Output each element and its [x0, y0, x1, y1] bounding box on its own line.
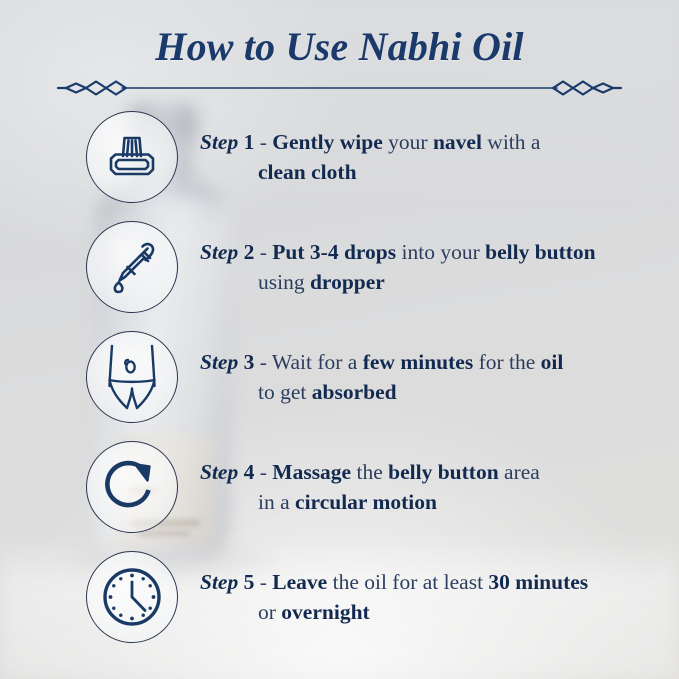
steps-list: Step 1 - Gently wipe your navel with a c…: [0, 102, 679, 652]
body-text: the: [351, 460, 388, 484]
tissue-box-icon: [86, 111, 178, 203]
emphasis-text: oil: [541, 350, 564, 374]
emphasis-text: dropper: [310, 270, 385, 294]
step-line-1: Wait for a few minutes for the oil: [272, 350, 563, 374]
circular-arrow-icon: [86, 441, 178, 533]
emphasis-text: Gently wipe: [272, 130, 382, 154]
emphasis-text: absorbed: [312, 380, 397, 404]
step-number: 1: [244, 130, 255, 154]
poster-header: How to Use Nabhi Oil: [0, 24, 679, 106]
step-line-2: using dropper: [200, 267, 596, 297]
step-dash: -: [260, 240, 267, 264]
step-text: Step 4 - Massage the belly button area i…: [200, 457, 540, 517]
step-label: Step: [200, 350, 238, 374]
dropper-icon: [86, 221, 178, 313]
emphasis-text: belly button: [485, 240, 596, 264]
abdomen-navel-icon: [86, 331, 178, 423]
emphasis-text: circular motion: [295, 490, 437, 514]
step-line-1: Massage the belly button area: [272, 460, 540, 484]
step-label: Step: [200, 240, 238, 264]
emphasis-text: Leave: [272, 570, 327, 594]
step-line-1: Put 3-4 drops into your belly button: [272, 240, 595, 264]
step-dash: -: [260, 350, 267, 374]
step-number: 3: [244, 350, 255, 374]
step-text: Step 1 - Gently wipe your navel with a c…: [200, 127, 540, 187]
step-dash: -: [260, 570, 267, 594]
ornamental-divider: [0, 75, 679, 101]
body-text: with a: [482, 130, 541, 154]
body-text: your: [383, 130, 433, 154]
step-label: Step: [200, 460, 238, 484]
step-dash: -: [260, 130, 267, 154]
step-row: Step 1 - Gently wipe your navel with a c…: [0, 102, 679, 212]
step-number: 4: [244, 460, 255, 484]
emphasis-text: 30 minutes: [488, 570, 588, 594]
page-title: How to Use Nabhi Oil: [0, 24, 679, 70]
emphasis-text: clean cloth: [258, 160, 357, 184]
step-number: 5: [244, 570, 255, 594]
step-line-1: Leave the oil for at least 30 minutes: [272, 570, 588, 594]
emphasis-text: Massage: [272, 460, 351, 484]
emphasis-text: belly button: [388, 460, 499, 484]
step-label: Step: [200, 130, 238, 154]
body-text: Wait for a: [272, 350, 363, 374]
step-number: 2: [244, 240, 255, 264]
emphasis-text: overnight: [281, 600, 369, 624]
body-text: into your: [396, 240, 485, 264]
step-row: Step 3 - Wait for a few minutes for the …: [0, 322, 679, 432]
emphasis-text: navel: [433, 130, 482, 154]
step-line-2: to get absorbed: [200, 377, 563, 407]
step-text: Step 3 - Wait for a few minutes for the …: [200, 347, 563, 407]
step-line-2: clean cloth: [200, 157, 540, 187]
step-row: Step 4 - Massage the belly button area i…: [0, 432, 679, 542]
poster-canvas: How to Use Nabhi Oil: [0, 0, 679, 679]
step-line-2: in a circular motion: [200, 487, 540, 517]
body-text: or: [258, 600, 281, 624]
emphasis-text: few minutes: [363, 350, 473, 374]
body-text: to get: [258, 380, 312, 404]
clock-icon: [86, 551, 178, 643]
body-text: in a: [258, 490, 295, 514]
body-text: for the: [473, 350, 540, 374]
step-label: Step: [200, 570, 238, 594]
body-text: using: [258, 270, 310, 294]
step-line-2: or overnight: [200, 597, 588, 627]
body-text: area: [499, 460, 540, 484]
emphasis-text: Put 3-4 drops: [272, 240, 396, 264]
step-text: Step 2 - Put 3-4 drops into your belly b…: [200, 237, 596, 297]
step-row: Step 5 - Leave the oil for at least 30 m…: [0, 542, 679, 652]
step-dash: -: [260, 460, 267, 484]
step-row: Step 2 - Put 3-4 drops into your belly b…: [0, 212, 679, 322]
body-text: the oil for at least: [327, 570, 488, 594]
step-line-1: Gently wipe your navel with a: [272, 130, 540, 154]
step-text: Step 5 - Leave the oil for at least 30 m…: [200, 567, 588, 627]
